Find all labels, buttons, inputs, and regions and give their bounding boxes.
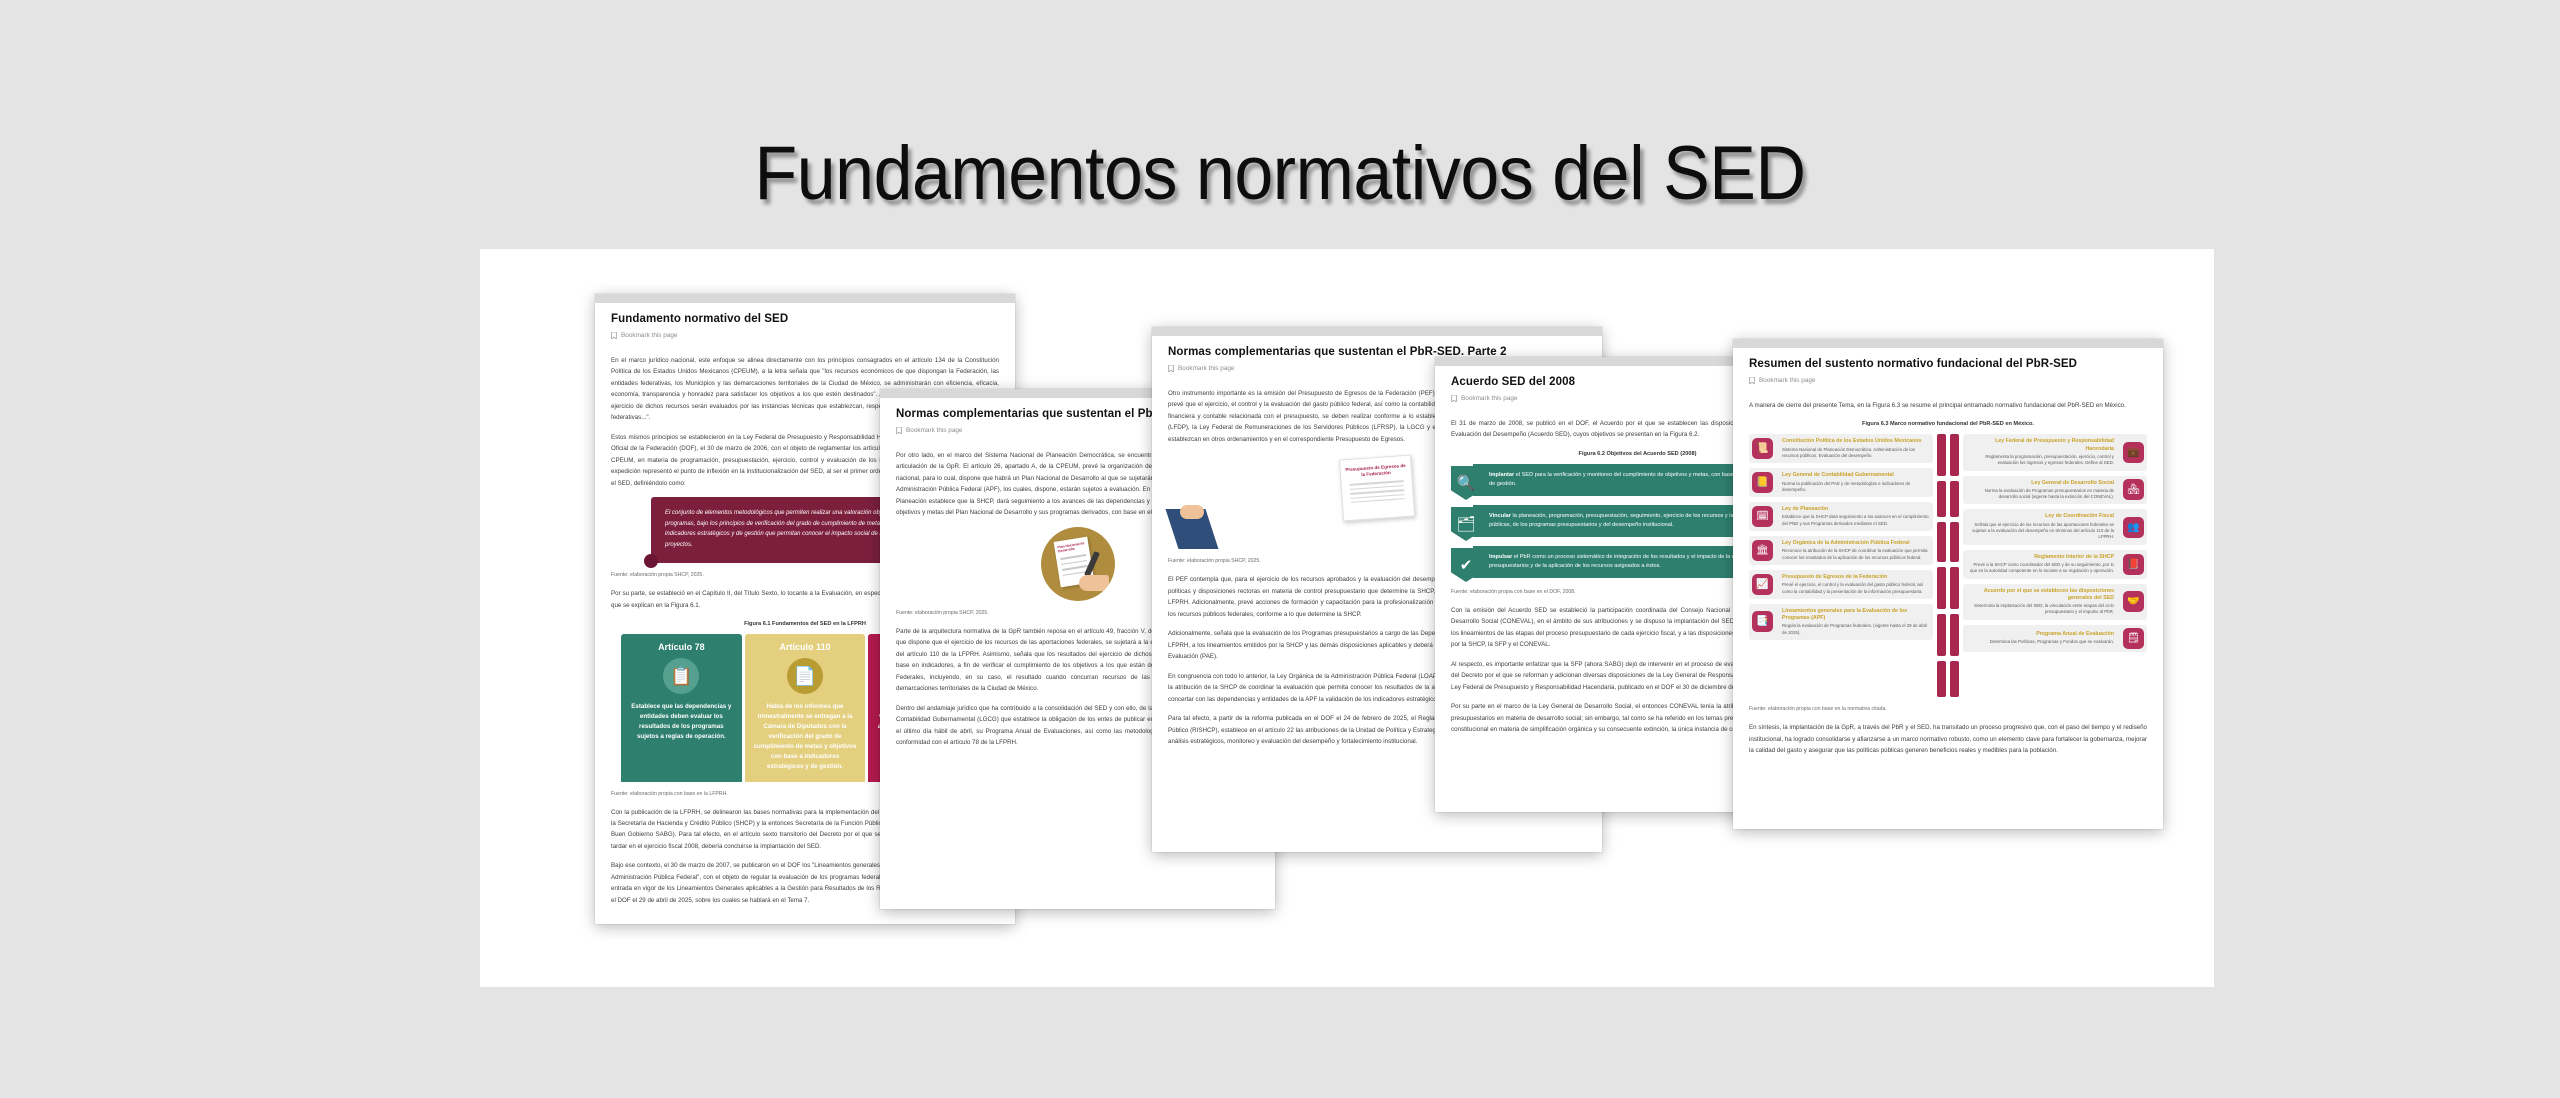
- matrix-text: Determina las Políticas, Programas y Fon…: [1966, 639, 2114, 645]
- clipboard-check-icon: 📋: [663, 658, 699, 694]
- matrix-item: 📈 Presupuesto de Egresos de la Federació…: [1749, 570, 1933, 599]
- matrix-heading: Ley General de Desarrollo Social: [1966, 480, 2114, 487]
- matrix-text: Reglamenta la programación, presupuestac…: [1966, 454, 2114, 467]
- constitution-scroll-icon: 📜: [1752, 438, 1773, 459]
- matrix-item: 📕 Reglamento Interior de la SHCP Prevé a…: [1963, 550, 2147, 579]
- bookmark-icon: [611, 332, 617, 339]
- matrix-item: 🏘 Ley General de Desarrollo Social Norma…: [1963, 476, 2147, 505]
- bookmark-icon: [1168, 365, 1174, 372]
- social-development-icon: 🏘: [2123, 479, 2144, 500]
- matrix-heading: Ley de Planeación: [1782, 506, 1930, 513]
- matrix-heading: Lineamientos generales para la Evaluació…: [1782, 608, 1930, 622]
- matrix-text: Prevé a la SHCP como coordinador del SED…: [1966, 562, 2114, 575]
- fiscal-coordination-icon: 👥: [2123, 517, 2144, 538]
- matrix-heading: Ley de Coordinación Fiscal: [1966, 513, 2114, 520]
- org-chart-icon: 🏛: [1752, 540, 1773, 561]
- bookmark-icon: [896, 427, 902, 434]
- bookmark-icon: [1749, 377, 1755, 384]
- planning-clock-icon: 🗓: [1752, 506, 1773, 527]
- bookmark-label: Bookmark this page: [906, 427, 962, 434]
- bookmark-icon: [1451, 395, 1457, 402]
- bookmark-label: Bookmark this page: [621, 332, 677, 339]
- objective-lead: Implantar: [1489, 472, 1514, 478]
- matrix-column-left: 📜 Constitución Política de los Estados U…: [1749, 434, 1933, 697]
- matrix-item: 📒 Ley General de Contabilidad Gubernamen…: [1749, 468, 1933, 497]
- matrix-text: Sistema Nacional de Planeación Democráti…: [1782, 447, 1930, 460]
- internal-regulation-icon: 📕: [2123, 554, 2144, 575]
- matrix-divider-right: [1950, 434, 1959, 697]
- figure-source: Fuente: elaboración propia con base en l…: [1749, 706, 2147, 712]
- article-card: Artículo 110 📄 Habla de los informes que…: [745, 634, 866, 781]
- matrix-text: Regula la evaluación de Programas federa…: [1782, 623, 1930, 636]
- matrix-heading: Presupuesto de Egresos de la Federación: [1782, 574, 1930, 581]
- page-title: Fundamentos normativos del SED: [102, 130, 2457, 217]
- accounting-book-icon: 📒: [1752, 472, 1773, 493]
- matrix-item: 🗓 Ley de Planeación Establece que la SHC…: [1749, 502, 1933, 531]
- article-text: Establece que las dependencias y entidad…: [621, 702, 742, 742]
- matrix-item: 💼 Ley Federal de Presupuesto y Responsab…: [1963, 434, 2147, 470]
- agreement-people-icon: 🤝: [2123, 591, 2144, 612]
- annual-program-icon: 🗒: [2123, 628, 2144, 649]
- doc-title: Resumen del sustento normativo fundacion…: [1749, 358, 2147, 370]
- doc-top-bar: [595, 294, 1015, 303]
- budget-document-icon: Presupuesto de Egresos de la Federación: [1339, 455, 1415, 522]
- matrix-heading: Ley Federal de Presupuesto y Responsabil…: [1966, 438, 2114, 452]
- article-text: Habla de los informes que trimestralment…: [745, 702, 866, 771]
- doc-top-bar: [1733, 339, 2163, 348]
- matrix-text: Prevé el ejercicio, el control y la eval…: [1782, 582, 1930, 595]
- matrix-heading: Acuerdo por el que se establecen las dis…: [1966, 588, 2114, 602]
- article-heading: Artículo 78: [621, 634, 742, 658]
- article-card: Artículo 78 📋 Establece que las dependen…: [621, 634, 742, 781]
- bookmark-page-button[interactable]: Bookmark this page: [1749, 377, 2147, 384]
- presentation-board-icon: 📈: [1752, 574, 1773, 595]
- matrix-item: 👥 Ley de Coordinación Fiscal Señala que …: [1963, 509, 2147, 544]
- matrix-heading: Ley General de Contabilidad Gubernamenta…: [1782, 472, 1930, 479]
- article-heading: Artículo 110: [745, 634, 866, 658]
- guidelines-icon: 📑: [1752, 611, 1773, 632]
- matrix-item: 📑 Lineamientos generales para la Evaluac…: [1749, 604, 1933, 640]
- paragraph: En síntesis, la implantación de la GpR, …: [1749, 722, 2147, 756]
- matrix-text: Determina la implantación del SED, la vi…: [1966, 603, 2114, 616]
- doc-title: Fundamento normativo del SED: [611, 313, 999, 325]
- objective-lead: Vincular: [1489, 513, 1511, 519]
- matrix-column-right: 💼 Ley Federal de Presupuesto y Responsab…: [1963, 434, 2147, 697]
- matrix-heading: Ley Orgánica de la Administración Públic…: [1782, 540, 1930, 547]
- matrix-heading: Reglamento Interior de la SHCP: [1966, 554, 2114, 561]
- illustration-doc-label: Presupuesto de Egresos de la Federación: [1340, 456, 1411, 482]
- matrix-text: Norma la publicación del PAE y de metodo…: [1782, 481, 1930, 494]
- objective-lead: Impulsar: [1489, 554, 1512, 560]
- bookmark-label: Bookmark this page: [1759, 377, 1815, 384]
- slide-canvas: Fundamento normativo del SED Bookmark th…: [480, 249, 2214, 987]
- paragraph: A manera de cierre del presente Tema, en…: [1749, 400, 2147, 411]
- matrix-heading: Programa Anual de Evaluación: [1966, 631, 2114, 638]
- bookmark-label: Bookmark this page: [1461, 395, 1517, 402]
- matrix-item: 🗒 Programa Anual de Evaluación Determina…: [1963, 625, 2147, 652]
- bookmark-page-button[interactable]: Bookmark this page: [611, 332, 999, 339]
- matrix-heading: Constitución Política de los Estados Uni…: [1782, 438, 1930, 445]
- hand-left-icon: [1180, 505, 1204, 519]
- illustration-doc-label: Plan Nacional de Desarrollo: [1053, 536, 1089, 554]
- hand-icon: [1079, 575, 1109, 591]
- matrix-text: Norma la evaluación de Programas presupu…: [1966, 488, 2114, 501]
- matrix-item: 🏛 Ley Orgánica de la Administración Públ…: [1749, 536, 1933, 565]
- document-card-resumen-sustento[interactable]: Resumen del sustento normativo fundacion…: [1733, 339, 2163, 829]
- matrix-text: Señala que el ejercicio de los recursos …: [1966, 522, 2114, 541]
- budget-hacienda-icon: 💼: [2123, 442, 2144, 463]
- bookmark-label: Bookmark this page: [1178, 365, 1234, 372]
- matrix-item: 🤝 Acuerdo por el que se establecen las d…: [1963, 584, 2147, 620]
- matrix-text: Establece que la SHCP dará seguimiento a…: [1782, 514, 1930, 527]
- figure-6-3-matrix: 📜 Constitución Política de los Estados U…: [1749, 434, 2147, 697]
- matrix-item: 📜 Constitución Política de los Estados U…: [1749, 434, 1933, 463]
- figure-caption: Figura 6.3 Marco normativo fundacional d…: [1749, 421, 2147, 427]
- doc-top-bar: [1152, 327, 1602, 336]
- report-document-icon: 📄: [787, 658, 823, 694]
- matrix-divider-left: [1937, 434, 1946, 697]
- matrix-text: Reconoce la atribución de la SHCP de coo…: [1782, 548, 1930, 561]
